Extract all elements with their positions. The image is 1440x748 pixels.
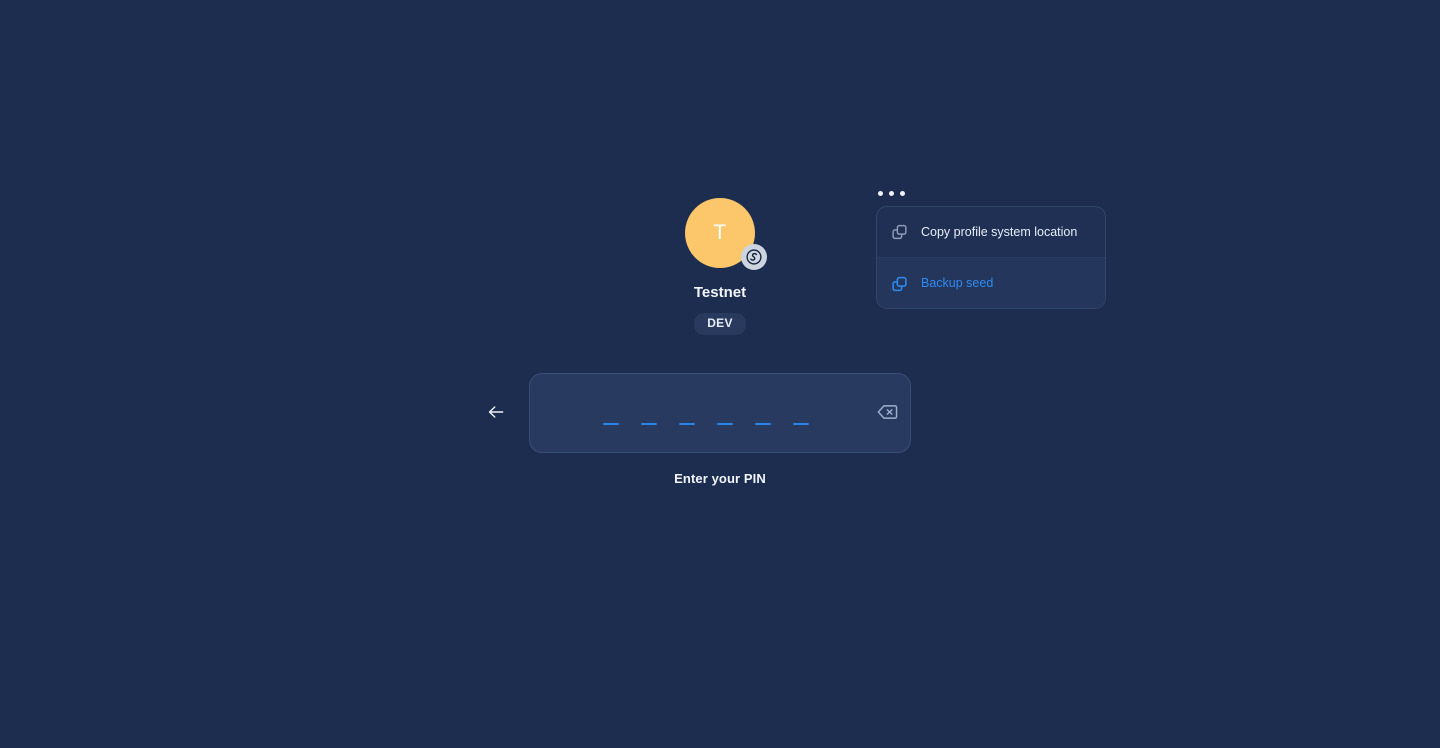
pin-input[interactable] bbox=[529, 373, 911, 453]
dot bbox=[878, 191, 883, 196]
pin-digit-slot bbox=[679, 423, 695, 425]
profile-context-menu: Copy profile system location Backup seed bbox=[876, 206, 1106, 309]
status-badge: DEV bbox=[694, 313, 746, 335]
backspace-icon bbox=[876, 403, 898, 424]
pin-digit-slot bbox=[641, 423, 657, 425]
avatar[interactable]: T bbox=[685, 198, 755, 268]
pin-caption: Enter your PIN bbox=[0, 471, 1440, 486]
more-horizontal-icon[interactable] bbox=[878, 183, 912, 203]
menu-item-label: Backup seed bbox=[921, 273, 993, 293]
copy-icon bbox=[891, 223, 908, 241]
pin-digit-slot bbox=[755, 423, 771, 425]
pin-digit-placeholders bbox=[530, 401, 864, 425]
menu-item-backup-seed[interactable]: Backup seed bbox=[877, 257, 1105, 308]
menu-item-copy-profile-system-location[interactable]: Copy profile system location bbox=[877, 207, 1105, 257]
copy-icon bbox=[891, 275, 908, 293]
pin-digit-slot bbox=[717, 423, 733, 425]
menu-item-label: Copy profile system location bbox=[921, 222, 1077, 242]
back-button[interactable] bbox=[481, 398, 511, 428]
arrow-left-icon bbox=[485, 402, 507, 425]
spiral-sync-icon bbox=[741, 244, 767, 270]
pin-digit-slot bbox=[603, 423, 619, 425]
dot bbox=[900, 191, 905, 196]
dot bbox=[889, 191, 894, 196]
profile-name: Testnet bbox=[694, 284, 746, 302]
pin-digit-slot bbox=[793, 423, 809, 425]
profile-block: T Testnet DEV bbox=[0, 198, 1440, 335]
backspace-button[interactable] bbox=[864, 390, 910, 436]
